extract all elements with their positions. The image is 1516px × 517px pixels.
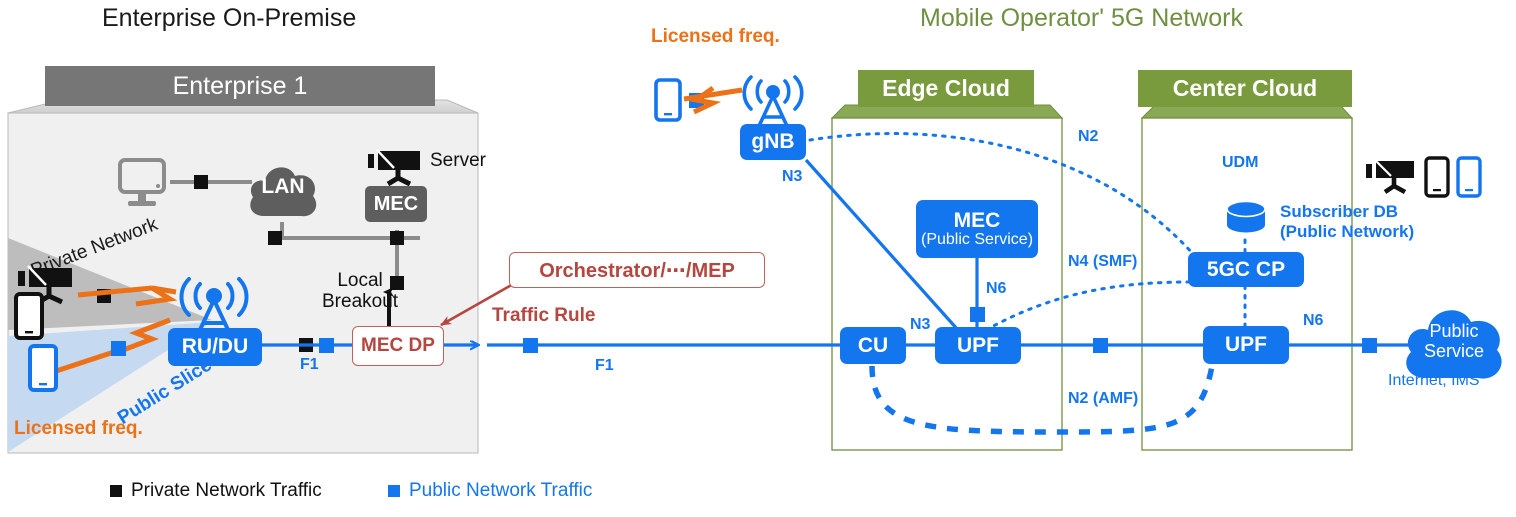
- 5gc-cp-label: 5GC CP: [1207, 259, 1285, 281]
- 5gc-cp-box[interactable]: 5GC CP: [1188, 252, 1304, 287]
- center-cloud-header: Center Cloud: [1138, 70, 1352, 107]
- legend-public-swatch: [388, 485, 400, 497]
- n6-label-center: N6: [1303, 312, 1323, 330]
- subscriber-phone-black-icon: [1424, 156, 1450, 203]
- gnb-box[interactable]: gNB: [740, 124, 806, 160]
- n3-label-gnb: N3: [782, 168, 802, 186]
- internet-ims-caption: Internet, IMS: [1388, 372, 1480, 390]
- n6-label-edge: N6: [986, 280, 1006, 298]
- n2-amf-label: N2 (AMF): [1068, 390, 1138, 408]
- edge-upf-label: UPF: [957, 335, 999, 357]
- gnb-label: gNB: [751, 131, 794, 153]
- edge-mec-label-line2: (Public Service): [921, 232, 1033, 249]
- legend-public-label: Public Network Traffic: [409, 480, 592, 502]
- database-icon: [1225, 200, 1267, 245]
- diagram-canvas: Enterprise On-Premise Mobile Operator' 5…: [0, 0, 1516, 517]
- edge-upf-box[interactable]: UPF: [935, 327, 1021, 364]
- subscriber-phone-blue-icon: [1456, 156, 1482, 203]
- edge-mec-label-line1: MEC: [954, 210, 1001, 232]
- n3-label-cu: N3: [910, 316, 930, 334]
- edge-cloud-header: Edge Cloud: [858, 70, 1034, 107]
- n4-smf-label: N4 (SMF): [1068, 253, 1137, 271]
- cu-box[interactable]: CU: [840, 327, 906, 364]
- subscriber-db-label: Subscriber DB (Public Network): [1280, 202, 1414, 242]
- subscriber-db-line2: (Public Network): [1280, 222, 1414, 242]
- legend-public: Public Network Traffic: [388, 480, 592, 502]
- legend-private-swatch: [110, 485, 122, 497]
- subscriber-db-line1: Subscriber DB: [1280, 202, 1414, 222]
- edge-mec-box[interactable]: MEC (Public Service): [916, 200, 1038, 258]
- udm-label: UDM: [1222, 154, 1258, 172]
- subscriber-laptop-icon: [1366, 156, 1418, 203]
- legend-private-label: Private Network Traffic: [131, 480, 322, 502]
- cu-label: CU: [858, 335, 888, 357]
- center-upf-box[interactable]: UPF: [1203, 326, 1289, 364]
- center-upf-label: UPF: [1225, 334, 1267, 356]
- legend-private: Private Network Traffic: [110, 480, 322, 502]
- n2-label: N2: [1078, 128, 1098, 146]
